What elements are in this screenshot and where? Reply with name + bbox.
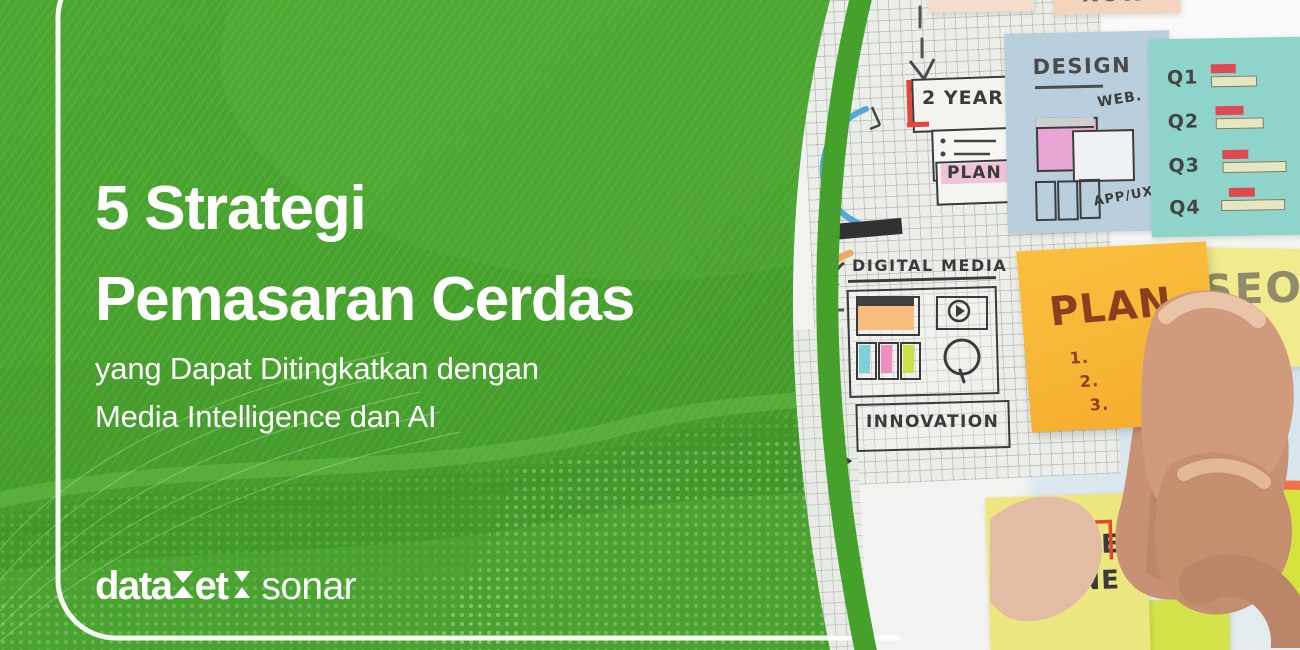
quarter-bar-red-1	[1211, 64, 1236, 73]
logo-wordmark: data et	[95, 566, 250, 606]
subtitle-line-1: yang Dapat Ditingkatkan dengan	[95, 351, 539, 386]
sticky-note-quarters: Q1 Q2 Q3 Q4	[1148, 37, 1300, 238]
sketch-label-plan: PLAN	[947, 163, 1002, 183]
design-phone-2	[1057, 180, 1079, 220]
sticky-note-now: NOW	[1053, 0, 1181, 15]
speech-bubble-icon	[938, 336, 990, 384]
plan-item-3: 3.	[1089, 395, 1110, 415]
sticky-note-peach-left	[928, 0, 1035, 13]
sticky-note-design-sub-app: APP/UX	[1093, 184, 1155, 209]
design-underline	[1035, 85, 1103, 89]
plan-item-2: 2.	[1079, 371, 1100, 391]
sticky-note-design-label: DESIGN	[1032, 53, 1131, 79]
sketch-bar-fill-3	[903, 345, 914, 373]
sticky-note-design-sub-web: WEB.	[1096, 88, 1143, 111]
quarter-bar-3	[1222, 161, 1286, 173]
title-line-1: 5 Strategi	[95, 174, 366, 243]
quarter-label-q3: Q3	[1168, 155, 1200, 178]
title-line-2: Pemasaran Cerdas	[95, 254, 775, 345]
dataxet-sonar-logo[interactable]: data et sonar	[95, 564, 356, 608]
quarter-label-q4: Q4	[1169, 197, 1201, 220]
quarter-bar-red-3	[1222, 150, 1248, 159]
subtitle-line-2: Media Intelligence dan AI	[95, 393, 785, 441]
quarter-bar-1	[1211, 76, 1257, 88]
bowtie-x-icon	[173, 571, 194, 598]
fingers-overlay	[1130, 268, 1300, 648]
plan-item-1: 1.	[1069, 348, 1090, 368]
design-mock-window-b	[1072, 129, 1135, 182]
quarter-bar-red-2	[1215, 106, 1243, 115]
design-phone-1	[1035, 181, 1057, 221]
quarter-label-q2: Q2	[1168, 111, 1200, 134]
marketing-banner: 2 YEAR PLAN DIGITAL MEDIA	[0, 0, 1300, 650]
logo-product-name: sonar	[261, 567, 356, 606]
play-circle-icon	[946, 299, 974, 325]
quarter-bar-2	[1216, 117, 1264, 129]
page-title: 5 Strategi Pemasaran Cerdas	[95, 163, 775, 345]
design-phone-3	[1079, 179, 1101, 219]
design-mock-titlebar-a	[1036, 117, 1094, 129]
quarter-bar-red-4	[1229, 188, 1255, 197]
triangle-colon-icon	[234, 571, 250, 598]
page-subtitle: yang Dapat Ditingkatkan dengan Media Int…	[95, 345, 785, 441]
sticky-note-now-label: NOW	[1081, 0, 1146, 8]
logo-brand-suffix: et	[195, 566, 228, 606]
quarter-bar-4	[1221, 199, 1285, 211]
thumb-overlay	[990, 430, 1150, 650]
logo-brand-prefix: data	[95, 566, 172, 606]
quarter-label-q1: Q1	[1167, 67, 1199, 90]
dashed-arrow-icon	[900, 5, 970, 85]
